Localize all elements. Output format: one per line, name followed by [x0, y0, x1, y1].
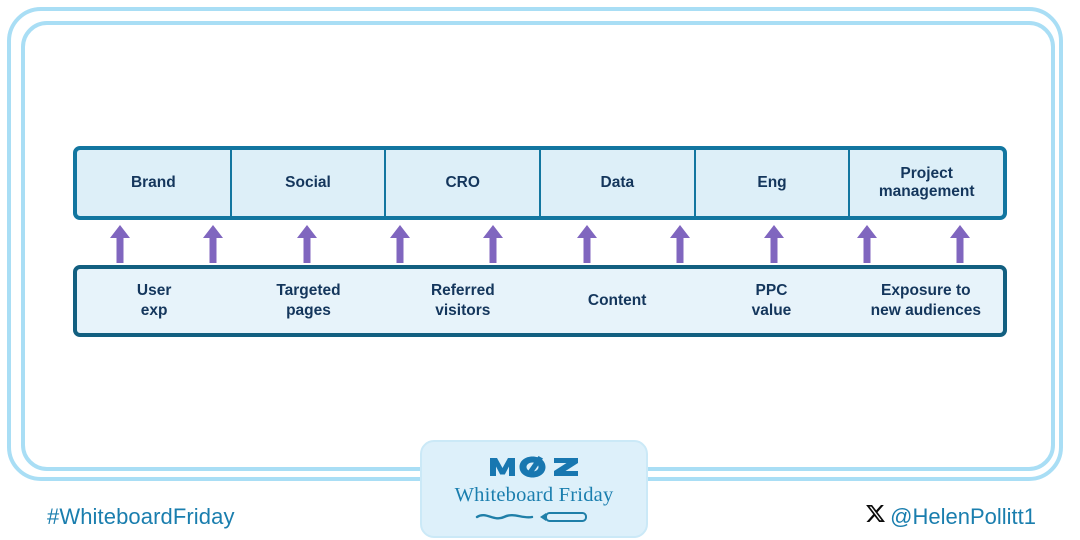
discipline-cell-eng: Eng: [696, 150, 851, 216]
discipline-label: CRO: [445, 174, 479, 192]
up-arrow-icon: [949, 224, 971, 264]
discipline-label: Projectmanagement: [879, 165, 975, 201]
up-arrow-icon: [763, 224, 785, 264]
up-arrow-icon: [389, 224, 411, 264]
up-arrow-icon: [296, 224, 318, 264]
up-arrow-icon: [576, 224, 598, 264]
value-cell-content: Content: [540, 269, 694, 333]
discipline-cell-social: Social: [232, 150, 387, 216]
value-cell-user-exp: Userexp: [77, 269, 231, 333]
value-label: Targetedpages: [276, 281, 340, 321]
value-cell-targeted-pages: Targetedpages: [231, 269, 385, 333]
discipline-cell-cro: CRO: [386, 150, 541, 216]
up-arrow-icon: [669, 224, 691, 264]
discipline-label: Data: [601, 174, 635, 192]
up-arrow-icon: [109, 224, 131, 264]
value-cell-referred-visitors: Referredvisitors: [386, 269, 540, 333]
value-label: Exposure tonew audiences: [871, 281, 981, 321]
up-arrow-icon: [202, 224, 224, 264]
value-label: Referredvisitors: [431, 281, 495, 321]
seo-value-bar: Userexp Targetedpages Referredvisitors C…: [73, 265, 1007, 337]
value-cell-ppc-value: PPCvalue: [694, 269, 848, 333]
up-arrow-icon: [482, 224, 504, 264]
x-twitter-icon: [865, 503, 886, 530]
discipline-cell-brand: Brand: [77, 150, 232, 216]
discipline-label: Eng: [757, 174, 786, 192]
discipline-label: Social: [285, 174, 331, 192]
value-label: PPCvalue: [752, 281, 792, 321]
moz-logo-icon: [488, 452, 580, 483]
disciplines-bar: Brand Social CRO Data Eng Projectmanagem…: [73, 146, 1007, 220]
marker-pen-icon: [474, 510, 594, 529]
social-handle[interactable]: @HelenPollitt1: [865, 503, 1036, 530]
value-label: Userexp: [137, 281, 171, 321]
value-label: Content: [588, 291, 647, 311]
arrow-row: [73, 224, 1007, 264]
hashtag-label: #WhiteboardFriday: [47, 504, 235, 530]
moz-whiteboard-friday-badge: Whiteboard Friday: [420, 440, 648, 538]
discipline-cell-data: Data: [541, 150, 696, 216]
up-arrow-icon: [856, 224, 878, 264]
social-handle-label: @HelenPollitt1: [890, 504, 1036, 530]
badge-title: Whiteboard Friday: [455, 484, 614, 507]
discipline-cell-project-management: Projectmanagement: [850, 150, 1003, 216]
discipline-label: Brand: [131, 174, 176, 192]
value-cell-exposure: Exposure tonew audiences: [849, 269, 1003, 333]
